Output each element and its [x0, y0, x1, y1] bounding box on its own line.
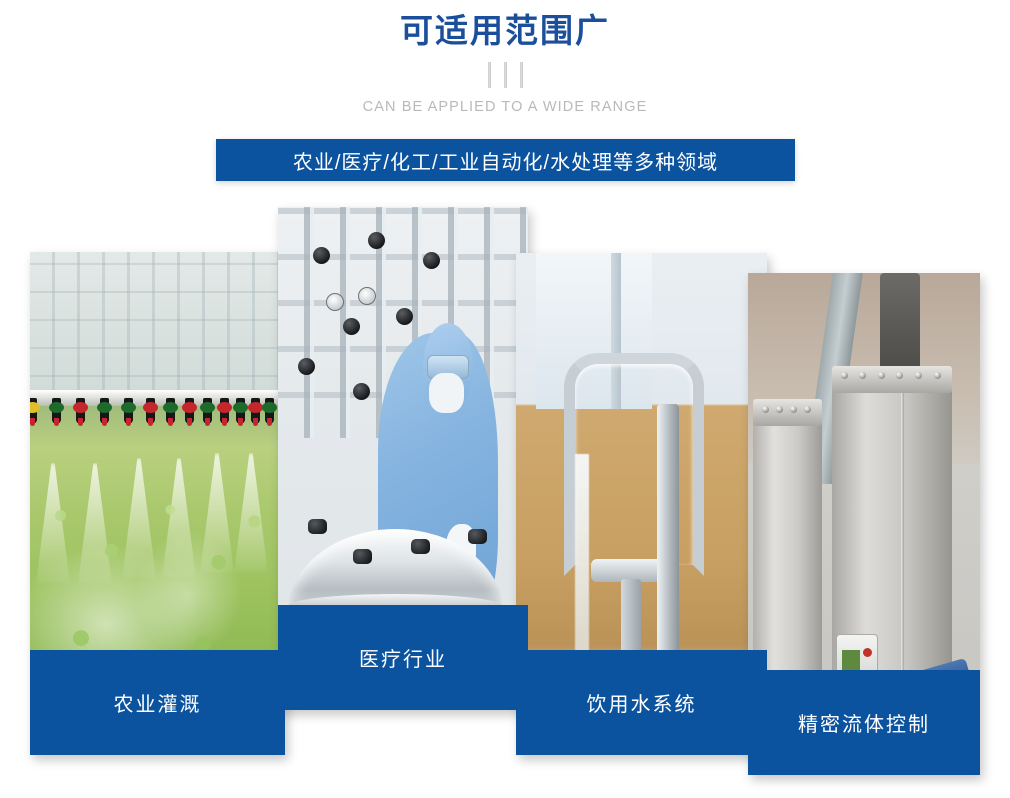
card-caption: 饮用水系统 — [516, 650, 767, 755]
nozzle-icon — [251, 398, 260, 424]
nozzle-icon — [76, 398, 85, 424]
valve-icon — [343, 318, 360, 335]
knob-icon — [308, 519, 327, 534]
bolt-icon — [934, 372, 941, 379]
nozzle-icon — [30, 398, 37, 424]
bolt-icon — [790, 406, 797, 413]
nozzle-icon — [52, 398, 61, 424]
pressure-gauge-icon — [326, 293, 344, 311]
nozzle-icon — [124, 398, 133, 424]
nozzle-icon — [220, 398, 229, 424]
card-caption: 精密流体控制 — [748, 670, 980, 775]
bolt-icon — [804, 406, 811, 413]
valve-icon — [396, 308, 413, 325]
level-rod — [901, 393, 904, 704]
vessel-flange — [832, 366, 953, 394]
status-led-icon — [863, 648, 872, 657]
valve-icon — [353, 383, 370, 400]
card-caption: 农业灌溉 — [30, 650, 285, 755]
nozzle-icon — [100, 398, 109, 424]
spray-nozzles — [30, 398, 285, 458]
nozzle-icon — [236, 398, 245, 424]
knob-icon — [411, 539, 430, 554]
application-card-agriculture[interactable]: 农业灌溉 — [30, 252, 285, 755]
nozzle-icon — [166, 398, 175, 424]
valve-icon — [368, 232, 385, 249]
valve-icon — [298, 358, 315, 375]
card-caption: 医疗行业 — [278, 605, 528, 710]
knob-icon — [353, 549, 372, 564]
knob-icon — [468, 529, 487, 544]
application-card-drinking-water[interactable]: 饮用水系统 — [516, 253, 767, 755]
nozzle-icon — [203, 398, 212, 424]
application-card-fluid-control[interactable]: 精密流体控制 — [748, 273, 980, 775]
greenhouse-glass — [30, 252, 285, 403]
bolt-icon — [776, 406, 783, 413]
application-card-medical[interactable]: 医疗行业 — [278, 207, 528, 710]
nozzle-icon — [265, 398, 274, 424]
bolt-icon — [762, 406, 769, 413]
face-mask-icon — [429, 373, 464, 413]
nozzle-icon — [185, 398, 194, 424]
application-cards: 农业灌溉 医疗行业 — [0, 0, 1010, 798]
nozzle-icon — [146, 398, 155, 424]
